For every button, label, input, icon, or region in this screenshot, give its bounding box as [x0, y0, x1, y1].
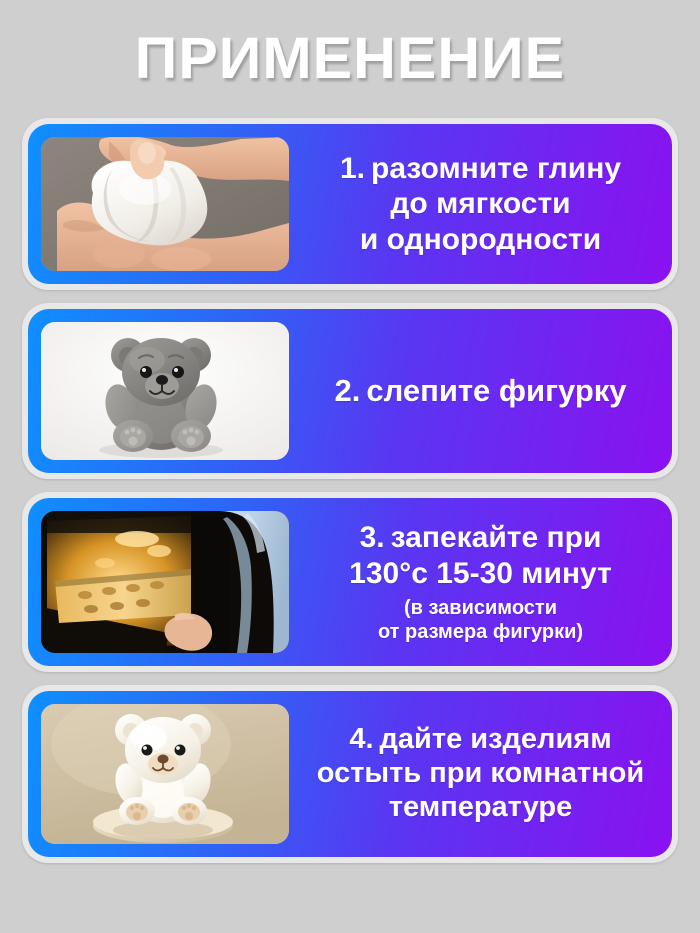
page-header: ПРИМЕНЕНИЕ — [0, 0, 700, 118]
step-3-line-1: 3.запекайте при — [301, 520, 660, 555]
oven-baking-photo — [41, 511, 289, 653]
step-card-3-text: 3.запекайте при 130°c 15-30 минут (в зав… — [289, 520, 672, 643]
step-2-number: 2. — [334, 373, 360, 408]
infographic-page: ПРИМЕНЕНИЕ — [0, 0, 700, 933]
gray-clay-bear-photo — [41, 322, 289, 460]
step-1-line-2: до мягкости — [301, 186, 660, 221]
step-card-1-text: 1.разомните глину до мягкости и однородн… — [289, 151, 672, 256]
step-3-sub-line-1: (в зависимости — [301, 596, 660, 620]
step-card-2-text: 2.слепите фигурку — [289, 373, 672, 409]
white-clay-bear-photo — [41, 704, 289, 844]
step-card-1: 1.разомните глину до мягкости и однородн… — [28, 124, 672, 284]
step-card-4-text: 4.дайте изделиям остыть при комнатной те… — [289, 723, 672, 825]
step-card-1-frame: 1.разомните глину до мягкости и однородн… — [22, 118, 678, 290]
step-card-4-frame: 4.дайте изделиям остыть при комнатной те… — [22, 685, 678, 863]
step-card-2: 2.слепите фигурку — [28, 309, 672, 473]
step-2-line-1: 2.слепите фигурку — [301, 373, 660, 409]
step-card-3: 3.запекайте при 130°c 15-30 минут (в зав… — [28, 498, 672, 666]
step-3-number: 3. — [360, 521, 385, 554]
step-card-2-frame: 2.слепите фигурку — [22, 303, 678, 479]
step-3-line-2: 130°c 15-30 минут — [301, 556, 660, 591]
hands-kneading-clay-photo — [41, 137, 289, 271]
step-1-number: 1. — [340, 152, 365, 185]
step-4-line-2: остыть при комнатной — [301, 757, 660, 791]
step-card-4: 4.дайте изделиям остыть при комнатной те… — [28, 691, 672, 857]
step-4-line-1: 4.дайте изделиям — [301, 723, 660, 757]
step-card-3-frame: 3.запекайте при 130°c 15-30 минут (в зав… — [22, 492, 678, 672]
step-4-line-3: температуре — [301, 791, 660, 825]
step-3-sub-line-2: от размера фигурки) — [301, 620, 660, 644]
page-title: ПРИМЕНЕНИЕ — [135, 30, 565, 88]
step-4-number: 4. — [349, 723, 373, 755]
step-1-line-3: и однородности — [301, 222, 660, 257]
step-1-line-1: 1.разомните глину — [301, 151, 660, 186]
steps-list: 1.разомните глину до мягкости и однородн… — [0, 118, 700, 863]
